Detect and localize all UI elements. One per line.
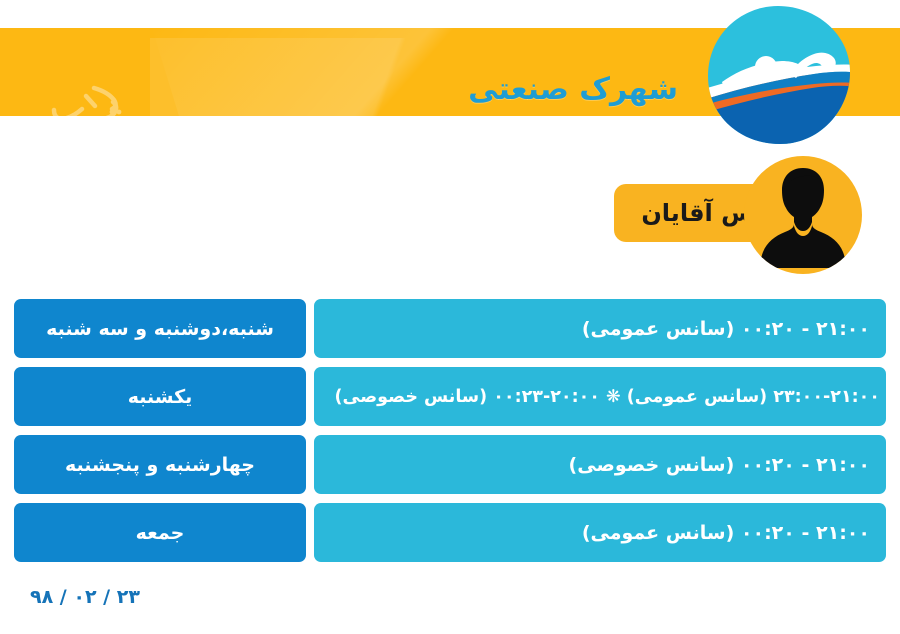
time-cell[interactable]: ۲۱:۰۰ - ۰۰:۲۰ (سانس عمومی) xyxy=(314,299,886,358)
footer-date: ۹۸ / ۰۲ / ۲۳ xyxy=(30,586,140,608)
table-row: چهارشنبه و پنجشنبه ۲۱:۰۰ - ۰۰:۲۰ (سانس خ… xyxy=(14,435,886,494)
day-cell[interactable]: جمعه xyxy=(14,503,306,562)
swimmer-pool-logo xyxy=(704,4,852,146)
table-row: جمعه ۲۱:۰۰ - ۰۰:۲۰ (سانس عمومی) xyxy=(14,503,886,562)
session-badge-circle xyxy=(744,156,862,274)
male-avatar-icon xyxy=(744,156,862,274)
table-row: یکشنبه ۲۳:۰۰-۲۱:۰۰ (سانس عمومی) ❋ ۲۰:۰۰-… xyxy=(14,367,886,426)
schedule-table: شنبه،دوشنبه و سه شنبه ۲۱:۰۰ - ۰۰:۲۰ (سان… xyxy=(14,299,886,571)
table-row: شنبه،دوشنبه و سه شنبه ۲۱:۰۰ - ۰۰:۲۰ (سان… xyxy=(14,299,886,358)
session-badge: سانس آقایان xyxy=(570,156,862,274)
time-cell[interactable]: ۲۱:۰۰ - ۰۰:۲۰ (سانس خصوصی) xyxy=(314,435,886,494)
day-cell[interactable]: چهارشنبه و پنجشنبه xyxy=(14,435,306,494)
time-cell[interactable]: ۲۱:۰۰ - ۰۰:۲۰ (سانس عمومی) xyxy=(314,503,886,562)
day-cell[interactable]: یکشنبه xyxy=(14,367,306,426)
time-cell[interactable]: ۲۳:۰۰-۲۱:۰۰ (سانس عمومی) ❋ ۲۰:۰۰-۰۰:۲۳ (… xyxy=(314,367,886,426)
day-cell[interactable]: شنبه،دوشنبه و سه شنبه xyxy=(14,299,306,358)
poster-root: شهرک صنعتی سانس آقایان xyxy=(0,0,900,634)
wiki-watermark-logo xyxy=(36,76,136,116)
page-title: شهرک صنعتی xyxy=(468,72,678,107)
